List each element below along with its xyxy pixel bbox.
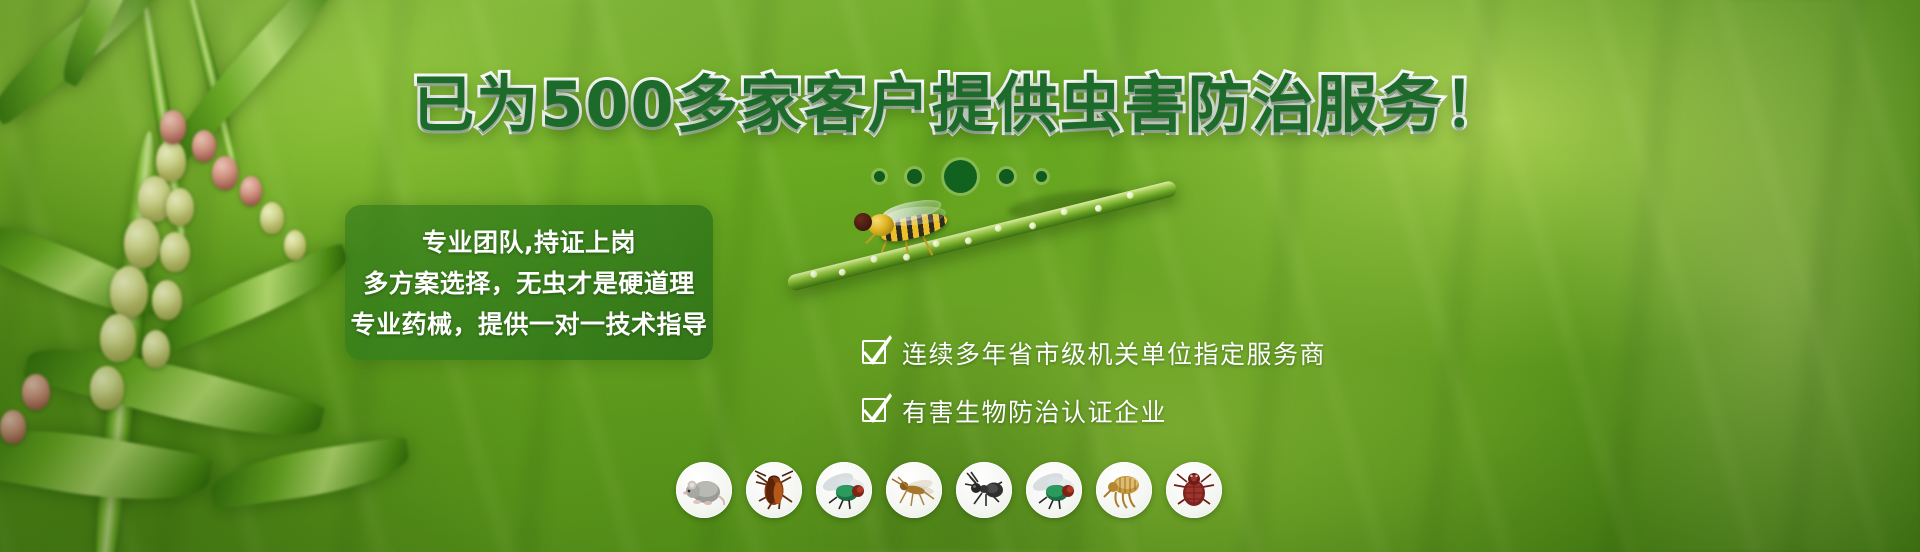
pest-circle-flea[interactable] bbox=[1096, 462, 1152, 518]
promo-banner: 已为500多家客户提供虫害防治服务！ 专业团队,持证上岗 多方案选择，无虫才是硬… bbox=[0, 0, 1920, 552]
bedbug-icon bbox=[1172, 469, 1216, 511]
credential-row: 有害生物防治认证企业 bbox=[862, 393, 1326, 429]
pest-circle-ant[interactable] bbox=[956, 462, 1012, 518]
mosquito-icon bbox=[891, 470, 937, 510]
flea-icon bbox=[1102, 470, 1146, 510]
credentials-list: 连续多年省市级机关单位指定服务商 有害生物防治认证企业 bbox=[862, 335, 1326, 429]
pest-circle-blowfly[interactable] bbox=[1026, 462, 1082, 518]
checkbox-checked-icon bbox=[862, 340, 888, 366]
decor-dot bbox=[944, 160, 977, 193]
pest-circle-mosquito[interactable] bbox=[886, 462, 942, 518]
pest-circle-bedbug[interactable] bbox=[1166, 462, 1222, 518]
pest-icon-strip bbox=[676, 462, 1222, 518]
decor-dot bbox=[1036, 171, 1047, 182]
mouse-icon bbox=[682, 470, 726, 510]
decor-dot bbox=[999, 169, 1014, 184]
checkbox-checked-icon bbox=[862, 398, 888, 424]
page-title: 已为500多家客户提供虫害防治服务！ bbox=[0, 74, 1920, 136]
ant-icon bbox=[962, 470, 1006, 510]
decor-dot bbox=[907, 169, 922, 184]
headline-text: 已为500多家客户提供虫害防治服务！ bbox=[412, 68, 1507, 141]
selling-point-line-3: 专业药械，提供一对一技术指导 bbox=[351, 305, 708, 341]
selling-point-line-2: 多方案选择，无虫才是硬道理 bbox=[363, 264, 695, 300]
credential-label: 有害生物防治认证企业 bbox=[902, 393, 1167, 429]
credential-label: 连续多年省市级机关单位指定服务商 bbox=[902, 335, 1326, 371]
selling-points-panel: 专业团队,持证上岗 多方案选择，无虫才是硬道理 专业药械，提供一对一技术指导 bbox=[345, 205, 713, 360]
decor-dot bbox=[874, 171, 885, 182]
cockroach-icon bbox=[752, 469, 796, 511]
pest-circle-mouse[interactable] bbox=[676, 462, 732, 518]
selling-point-line-1: 专业团队,持证上岗 bbox=[422, 223, 636, 259]
fly-icon bbox=[1031, 470, 1077, 510]
pest-circle-cockroach[interactable] bbox=[746, 462, 802, 518]
credential-row: 连续多年省市级机关单位指定服务商 bbox=[862, 335, 1326, 371]
fly-icon bbox=[821, 470, 867, 510]
decorative-dots bbox=[0, 160, 1920, 193]
pest-circle-fly[interactable] bbox=[816, 462, 872, 518]
